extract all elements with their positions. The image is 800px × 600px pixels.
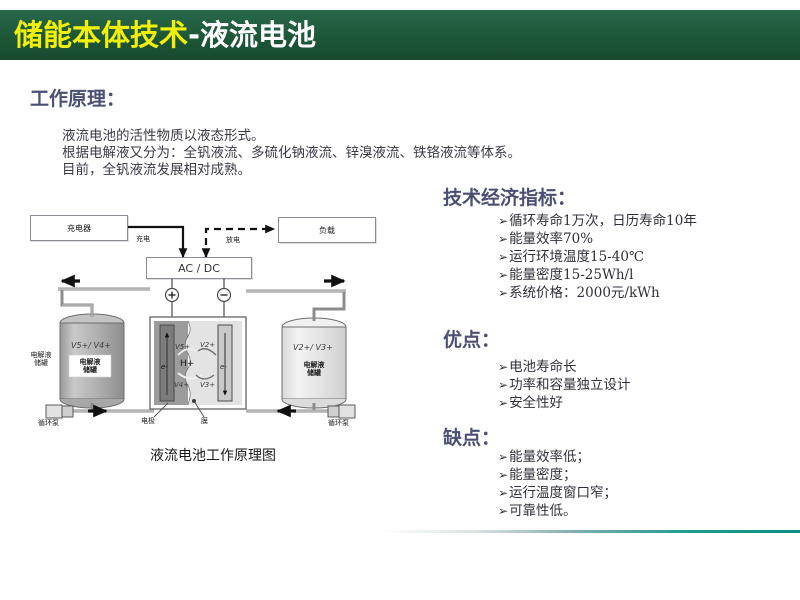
- principle-line-3: 目前，全钒液流发展相对成熟。: [62, 162, 542, 179]
- left-tank-inner-label: 电解液 储罐: [72, 358, 108, 374]
- charger-box-label: 充电器: [67, 223, 91, 234]
- bullet-arrow-icon: ➢: [498, 448, 508, 466]
- list-item: ➢ 运行温度窗口窄；: [498, 484, 617, 502]
- principle-paragraph: 液流电池的活性物质以液态形式。 根据电解液又分为：全钒液流、多硫化钠液流、锌溴液…: [62, 128, 542, 179]
- electron-left-label: e-: [161, 363, 168, 371]
- load-box: 负载: [278, 217, 376, 243]
- charger-box: 充电器: [30, 215, 128, 241]
- bottom-accent-rule: [380, 530, 800, 533]
- bullet-arrow-icon: ➢: [498, 484, 508, 502]
- bullet-arrow-icon: ➢: [498, 248, 508, 266]
- bullet-arrow-icon: ➢: [498, 230, 508, 248]
- list-item: ➢ 能量密度15-25Wh/l: [498, 266, 697, 284]
- metrics-list: ➢ 循环寿命1万次，日历寿命10年 ➢ 能量效率70% ➢ 运行环境温度15-4…: [498, 212, 697, 302]
- electrode-label: 电极: [141, 417, 155, 425]
- page-title-rest: -液流电池: [188, 18, 316, 52]
- bullet-arrow-icon: ➢: [498, 502, 508, 520]
- list-item: ➢ 安全性好: [498, 394, 631, 412]
- proton-label: H+: [180, 359, 194, 369]
- bullet-arrow-icon: ➢: [498, 376, 508, 394]
- heading-advantages: 优点：: [443, 325, 500, 352]
- metric-item-4: 能量密度15-25Wh/l: [509, 266, 633, 284]
- bullet-arrow-icon: ➢: [498, 266, 508, 284]
- page-title: 储能本体技术-液流电池: [14, 21, 316, 50]
- flow-battery-schematic: 充电器 负载 AC / DC 充电 放电 电解液 储罐 V5+/ V4+ 电解液…: [28, 205, 398, 425]
- metric-item-5: 系统价格：2000元/kWh: [509, 284, 660, 302]
- heading-technical-metrics: 技术经济指标：: [443, 183, 576, 210]
- ion-right-bottom-label: V3+: [200, 381, 215, 389]
- ion-right-top-label: V2+: [200, 341, 215, 349]
- ion-left-bottom-label: V4+: [174, 381, 189, 389]
- advantages-list: ➢ 电池寿命长 ➢ 功率和容量独立设计 ➢ 安全性好: [498, 358, 631, 412]
- disadvantage-item-3: 运行温度窗口窄；: [509, 484, 617, 502]
- membrane-label: 膜: [201, 417, 208, 425]
- slide-canvas: 储能本体技术-液流电池 工作原理： 液流电池的活性物质以液态形式。 根据电解液又…: [0, 0, 800, 600]
- list-item: ➢ 能量密度；: [498, 466, 617, 484]
- disadvantages-list: ➢ 能量效率低； ➢ 能量密度； ➢ 运行温度窗口窄； ➢ 可靠性低。: [498, 448, 617, 520]
- heading-disadvantages: 缺点：: [443, 423, 500, 450]
- metric-item-2: 能量效率70%: [509, 230, 593, 248]
- right-tank-ion-label: V2+/ V3+: [293, 343, 333, 352]
- bullet-arrow-icon: ➢: [498, 358, 508, 376]
- ac-dc-converter-label: AC / DC: [178, 262, 220, 275]
- heading-working-principle: 工作原理：: [30, 84, 125, 111]
- slide-header-bar: 储能本体技术-液流电池: [0, 10, 800, 60]
- principle-line-1: 液流电池的活性物质以液态形式。: [62, 128, 542, 145]
- left-tank-ion-label: V5+/ V4+: [71, 341, 111, 350]
- list-item: ➢ 可靠性低。: [498, 502, 617, 520]
- bullet-arrow-icon: ➢: [498, 212, 508, 230]
- ac-dc-converter-box: AC / DC: [146, 257, 252, 279]
- bullet-arrow-icon: ➢: [498, 284, 508, 302]
- advantage-item-2: 功率和容量独立设计: [509, 376, 631, 394]
- charge-arrow-label: 充电: [136, 235, 150, 243]
- list-item: ➢ 运行环境温度15-40℃: [498, 248, 697, 266]
- discharge-arrow-label: 放电: [226, 236, 240, 244]
- bullet-arrow-icon: ➢: [498, 466, 508, 484]
- list-item: ➢ 能量效率70%: [498, 230, 697, 248]
- page-title-highlight: 储能本体技术: [14, 18, 188, 52]
- right-tank-inner-label: 电解液 储罐: [296, 361, 332, 377]
- metric-item-1: 循环寿命1万次，日历寿命10年: [509, 212, 697, 230]
- list-item: ➢ 能量效率低；: [498, 448, 617, 466]
- diagram-caption: 液流电池工作原理图: [28, 445, 398, 465]
- metric-item-3: 运行环境温度15-40℃: [509, 248, 644, 266]
- disadvantage-item-2: 能量密度；: [509, 466, 577, 484]
- ion-left-top-label: V5+: [175, 343, 190, 351]
- disadvantage-item-1: 能量效率低；: [509, 448, 590, 466]
- advantage-item-3: 安全性好: [509, 394, 563, 412]
- list-item: ➢ 电池寿命长: [498, 358, 631, 376]
- left-tank-outer-label: 电解液 储罐: [26, 351, 56, 367]
- list-item: ➢ 系统价格：2000元/kWh: [498, 284, 697, 302]
- advantage-item-1: 电池寿命长: [509, 358, 577, 376]
- list-item: ➢ 循环寿命1万次，日历寿命10年: [498, 212, 697, 230]
- electron-right-label: e-: [220, 363, 227, 371]
- left-pump-label: 循环泵: [38, 419, 59, 427]
- load-box-label: 负载: [319, 225, 335, 236]
- list-item: ➢ 功率和容量独立设计: [498, 376, 631, 394]
- bullet-arrow-icon: ➢: [498, 394, 508, 412]
- principle-line-2: 根据电解液又分为：全钒液流、多硫化钠液流、锌溴液流、铁铬液流等体系。: [62, 145, 542, 162]
- right-pump-label: 循环泵: [328, 419, 349, 427]
- disadvantage-item-4: 可靠性低。: [509, 502, 577, 520]
